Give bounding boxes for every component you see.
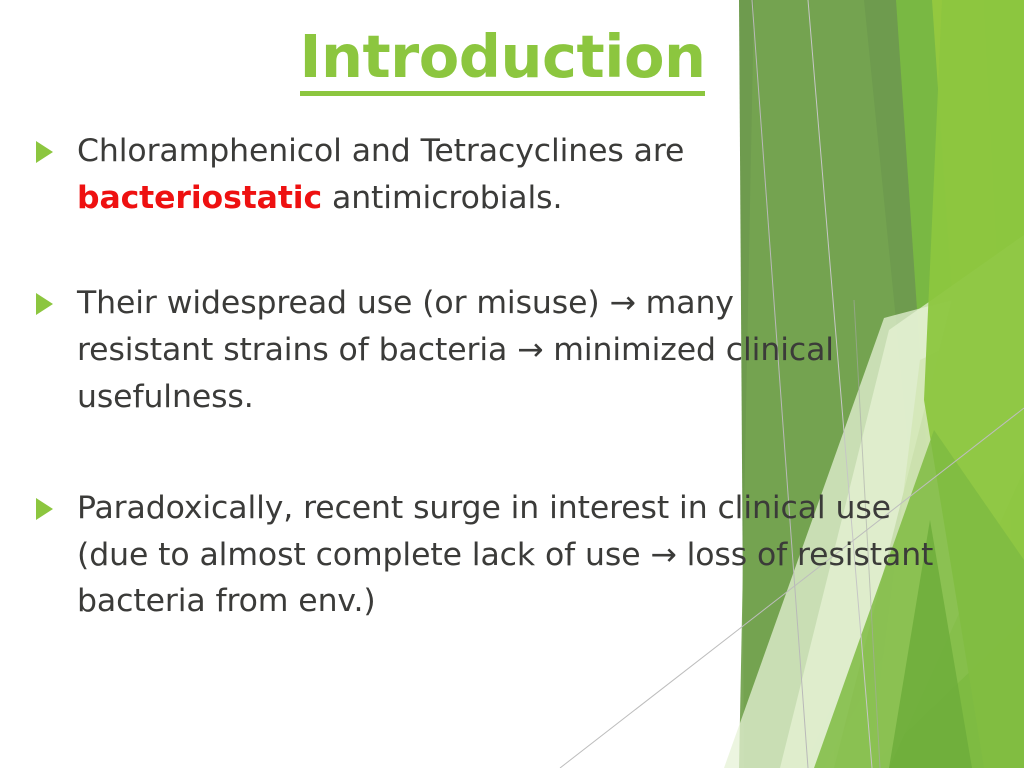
bullet-item-2: Their widespread use (or misuse) → many … (36, 280, 936, 421)
title-container: Introduction (0, 26, 1005, 96)
bullet-1-text: Chloramphenicol and Tetracyclines are ba… (77, 128, 807, 222)
slide-title: Introduction (300, 26, 706, 96)
bullet-3-text: Paradoxically, recent surge in interest … (77, 485, 936, 626)
bullet-item-1: Chloramphenicol and Tetracyclines are ba… (36, 128, 936, 222)
bullet-2-text: Their widespread use (or misuse) → many … (77, 280, 867, 421)
decor-shape-lime-overlay (924, 0, 1024, 768)
decor-shape-lime-right (939, 0, 1024, 768)
bullet-1-segment-3: antimicrobials. (322, 180, 562, 216)
triangle-right-icon (36, 293, 53, 315)
triangle-right-icon (36, 141, 53, 163)
slide-body: Chloramphenicol and Tetracyclines are ba… (36, 128, 936, 625)
bullet-1-emphasis-bacteriostatic: bacteriostatic (77, 180, 322, 216)
triangle-right-icon (36, 498, 53, 520)
bullet-item-3: Paradoxically, recent surge in interest … (36, 485, 936, 626)
slide-canvas: Introduction Chloramphenicol and Tetracy… (0, 0, 1024, 768)
bullet-1-segment-1: Chloramphenicol and Tetracyclines are (77, 133, 684, 169)
